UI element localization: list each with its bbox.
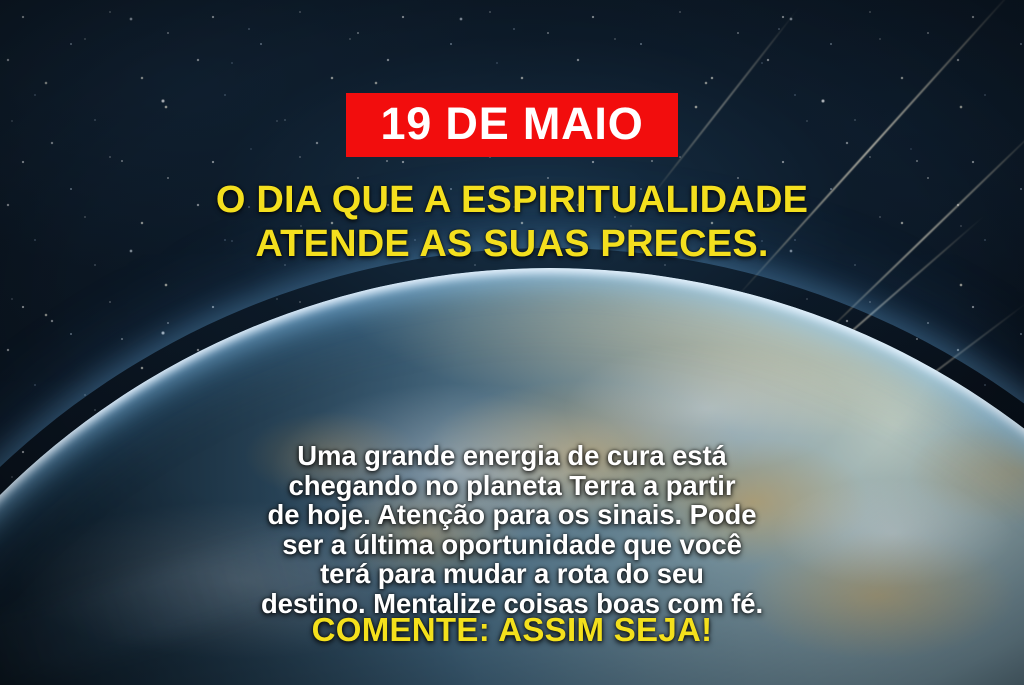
body-line-5: terá para mudar a rota do seu	[0, 559, 1024, 589]
body-line-1: Uma grande energia de cura está	[0, 441, 1024, 471]
body-line-3: de hoje. Atenção para os sinais. Pode	[0, 500, 1024, 530]
body-paragraph: Uma grande energia de cura está chegando…	[0, 441, 1024, 618]
poster-canvas: 19 DE MAIO O DIA QUE A ESPIRITUALIDADE A…	[0, 0, 1024, 685]
headline-line-1: O DIA QUE A ESPIRITUALIDADE	[72, 178, 952, 222]
poster-content: 19 DE MAIO O DIA QUE A ESPIRITUALIDADE A…	[0, 0, 1024, 685]
date-banner-label: 19 DE MAIO	[380, 101, 643, 146]
date-banner: 19 DE MAIO	[346, 93, 677, 157]
body-line-2: chegando no planeta Terra a partir	[0, 471, 1024, 501]
headline-line-2: ATENDE AS SUAS PRECES.	[72, 222, 952, 266]
headline: O DIA QUE A ESPIRITUALIDADE ATENDE AS SU…	[72, 178, 952, 266]
call-to-action-text: COMENTE: ASSIM SEJA!	[0, 613, 1024, 646]
body-line-4: ser a última oportunidade que você	[0, 530, 1024, 560]
